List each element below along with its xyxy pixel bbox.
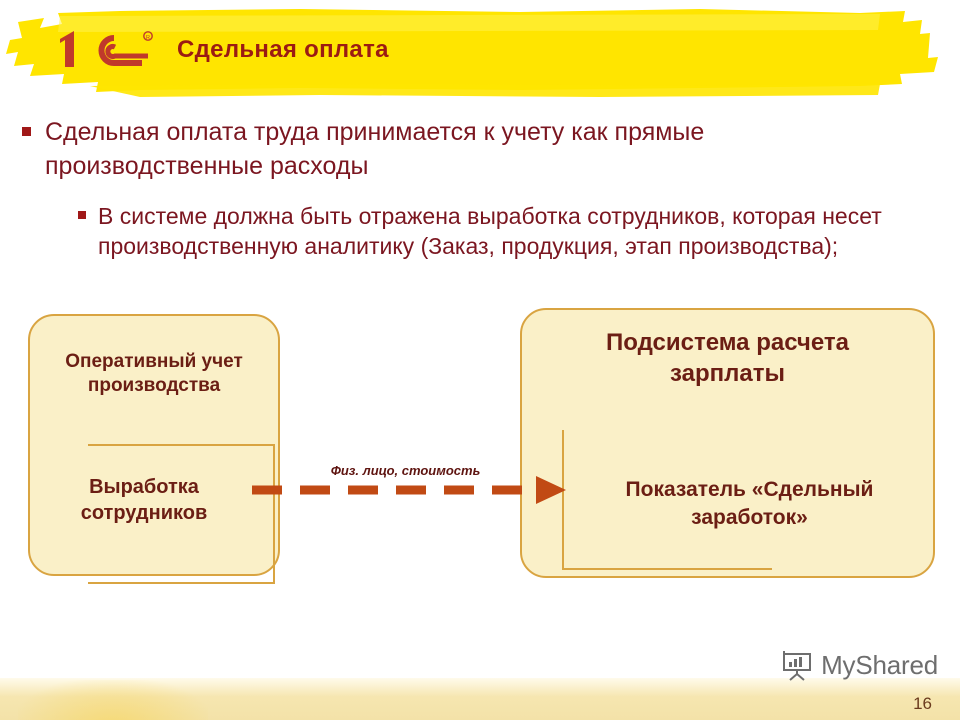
page-number: 16: [913, 694, 932, 714]
arrow-label: Физ. лицо, стоимость: [298, 463, 513, 478]
footer-band: [0, 678, 960, 720]
watermark-text: MyShared: [821, 650, 938, 681]
diagram-node-operational-accounting: Оперативный учет производства Выработка …: [28, 314, 280, 576]
bullet-item-primary: Сдельная оплата труда принимается к учет…: [22, 116, 927, 183]
node-left-title: Оперативный учет производства: [30, 350, 278, 398]
page-title: Сдельная оплата: [177, 36, 389, 64]
myshared-watermark: MyShared: [781, 650, 938, 681]
bullet-primary-text: Сдельная оплата труда принимается к учет…: [45, 116, 927, 183]
footer-glow: [18, 680, 208, 720]
process-diagram: Оперативный учет производства Выработка …: [0, 300, 960, 600]
square-bullet-icon: [22, 127, 31, 136]
node-right-subtitle: Показатель «Сдельный заработок»: [578, 476, 921, 532]
bullet-secondary-text: В системе должна быть отражена выработка…: [98, 201, 933, 262]
diagram-node-payroll-subsystem: Подсистема расчета зарплаты Показатель «…: [520, 308, 935, 578]
node-left-subtitle: Выработка сотрудников: [38, 474, 250, 526]
presentation-chart-icon: [781, 651, 813, 681]
bullet-item-secondary: В системе должна быть отражена выработка…: [78, 201, 933, 262]
svg-text:R: R: [146, 35, 150, 41]
square-bullet-icon: [78, 211, 86, 219]
1c-logo: R: [52, 27, 157, 75]
title-banner: R Сдельная оплата: [0, 0, 960, 100]
node-right-title: Подсистема расчета зарплаты: [522, 328, 933, 389]
slide-canvas: R Сдельная оплата Сдельная оплата труда …: [0, 0, 960, 720]
